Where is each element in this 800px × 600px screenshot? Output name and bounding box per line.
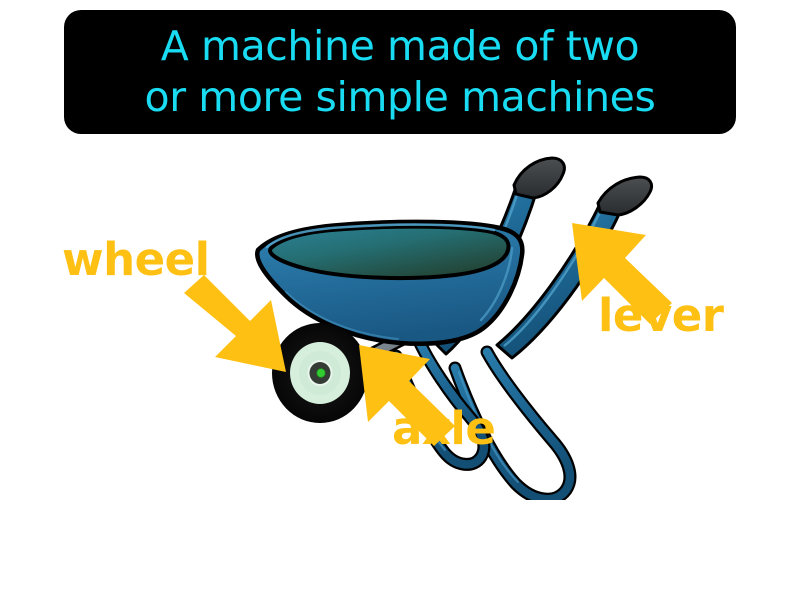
callout-arrow-wheel	[184, 275, 286, 372]
callout-label-wheel: wheel	[62, 237, 210, 282]
callout-label-lever: lever	[598, 293, 724, 338]
definition-line-1: A machine made of two	[161, 21, 640, 72]
axle-center-dot	[317, 369, 325, 378]
definition-banner: A machine made of two or more simple mac…	[64, 10, 736, 134]
handle-grip-left	[514, 158, 564, 198]
definition-line-2: or more simple machines	[145, 72, 656, 123]
handle-grip-right	[598, 177, 652, 215]
callout-label-axle: axle	[392, 406, 495, 451]
wheelbarrow-tray	[257, 222, 522, 344]
illustration-card: A machine made of two or more simple mac…	[0, 0, 800, 600]
wheel	[272, 323, 368, 423]
